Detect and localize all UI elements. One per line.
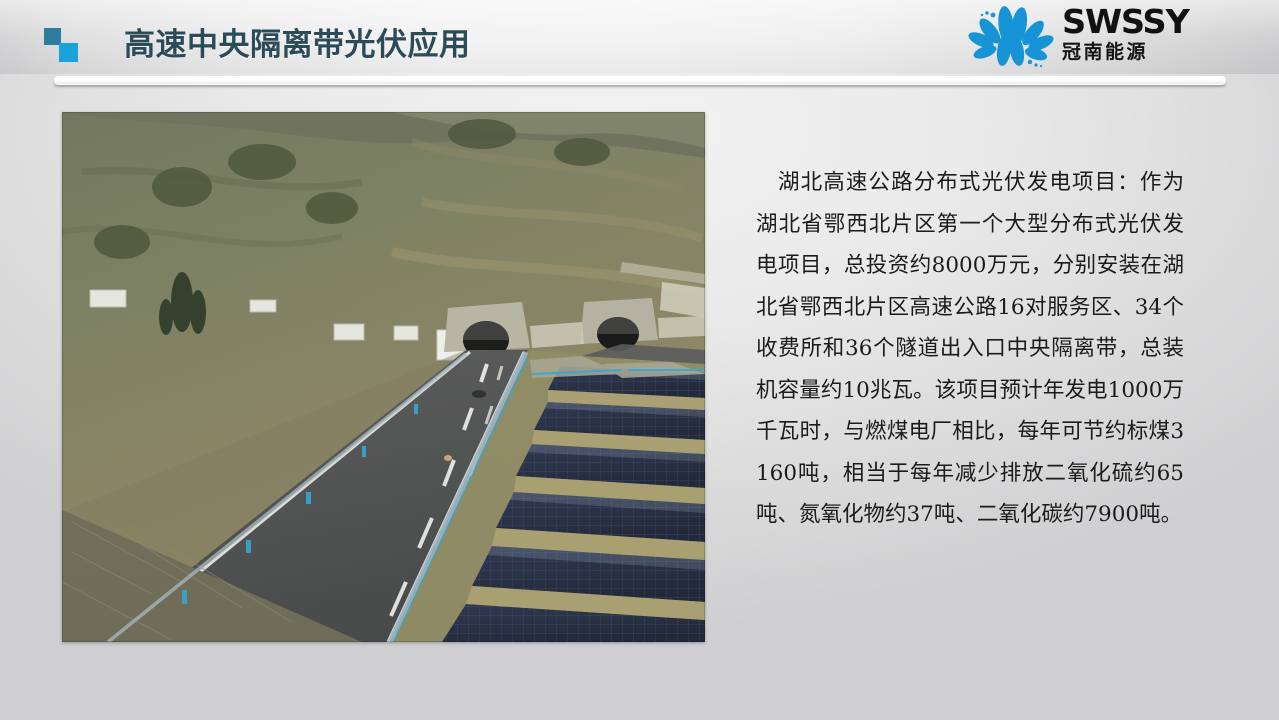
two-squares-icon <box>44 28 78 62</box>
page-title: 高速中央隔离带光伏应用 <box>124 19 471 64</box>
header-divider-shadow <box>54 85 1226 88</box>
brand-subtitle: 冠南能源 <box>1062 40 1224 64</box>
brand-wordmark: SWSSY <box>1062 5 1227 39</box>
slide-body-paragraph: 湖北高速公路分布式光伏发电项目：作为湖北省鄂西北片区第一个大型分布式光伏发电项目… <box>756 162 1184 536</box>
blue-petal-flower-icon <box>962 4 1058 70</box>
header-divider <box>54 76 1226 85</box>
highway-median-solar-panels-aerial-photo <box>62 112 705 642</box>
presentation-slide: 高速中央隔离带光伏应用 <box>0 0 1279 720</box>
brand-logo-text: SWSSY 冠南能源 <box>1062 5 1224 64</box>
two-squares-icon-lower <box>59 43 78 62</box>
brand-logo: SWSSY 冠南能源 <box>962 4 1224 70</box>
